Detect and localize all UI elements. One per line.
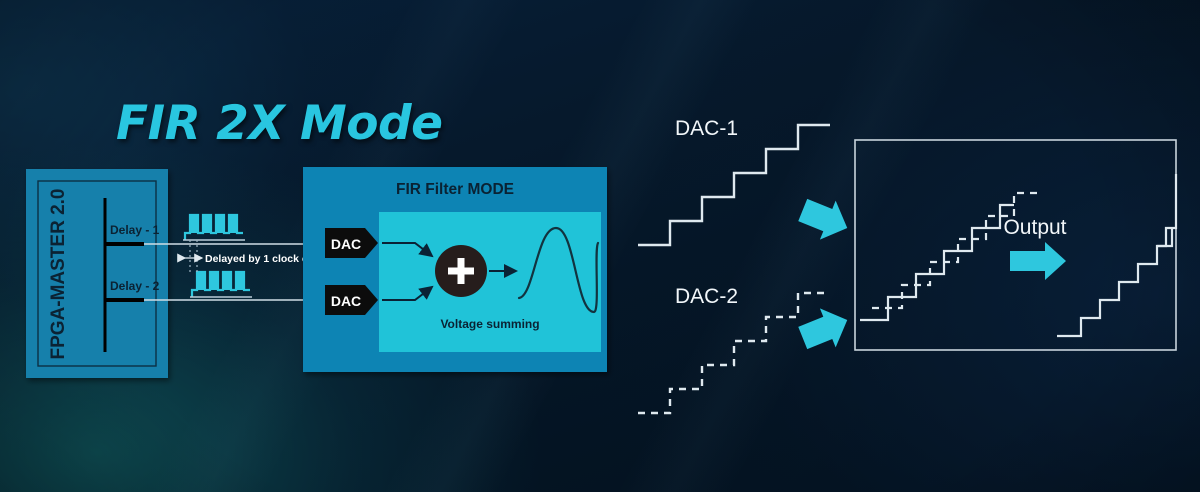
dac-2-trace: DAC-2	[638, 285, 830, 413]
fir-block-title: FIR Filter MODE	[396, 181, 514, 198]
arrow-right-shape	[1010, 242, 1066, 280]
arrow-down-right-icon	[795, 191, 855, 248]
dac-2-staircase	[638, 293, 830, 413]
output-label: Output	[1003, 216, 1066, 239]
plus-icon-vertical	[458, 258, 465, 284]
pulse-train-top	[183, 215, 245, 240]
fir-2x-mode-diagram: FIR 2X Mode FPGA-MASTER 2.0 Delay - 1	[0, 0, 1200, 492]
fpga-block-label: FPGA-MASTER 2.0	[48, 188, 69, 359]
plus-icon	[435, 245, 487, 297]
dac-tag-1-label: DAC	[331, 236, 361, 252]
output-result-staircase-lower	[1062, 228, 1172, 336]
arrow-up-right-icon	[795, 301, 855, 358]
voltage-summing-label: Voltage summing	[440, 317, 539, 331]
pulse-train-bottom	[190, 272, 252, 297]
arrow-down-right-shape	[795, 191, 855, 248]
fpga-master-block: FPGA-MASTER 2.0 Delay - 1 Delay - 2	[26, 169, 168, 378]
fir-filter-block: FIR Filter MODE DAC DAC	[303, 167, 607, 372]
pulse-train-top-fill	[190, 215, 237, 233]
dac-1-staircase	[638, 125, 830, 245]
delay-1-label: Delay - 1	[110, 223, 160, 237]
dac-tag-2-label: DAC	[331, 293, 361, 309]
dac-2-label: DAC-2	[675, 285, 738, 308]
output-panel-border	[855, 140, 1176, 350]
arrow-right-icon	[1010, 242, 1066, 280]
fir-inner-panel	[379, 212, 601, 352]
dac-1-label: DAC-1	[675, 117, 738, 140]
delay-2-label: Delay - 2	[110, 279, 160, 293]
pulse-train-bottom-fill	[197, 272, 244, 290]
output-result-staircase-upper	[1057, 174, 1176, 336]
arrow-up-right-shape	[795, 301, 855, 358]
output-panel: Output	[855, 140, 1176, 350]
dac-1-trace: DAC-1	[638, 117, 830, 245]
